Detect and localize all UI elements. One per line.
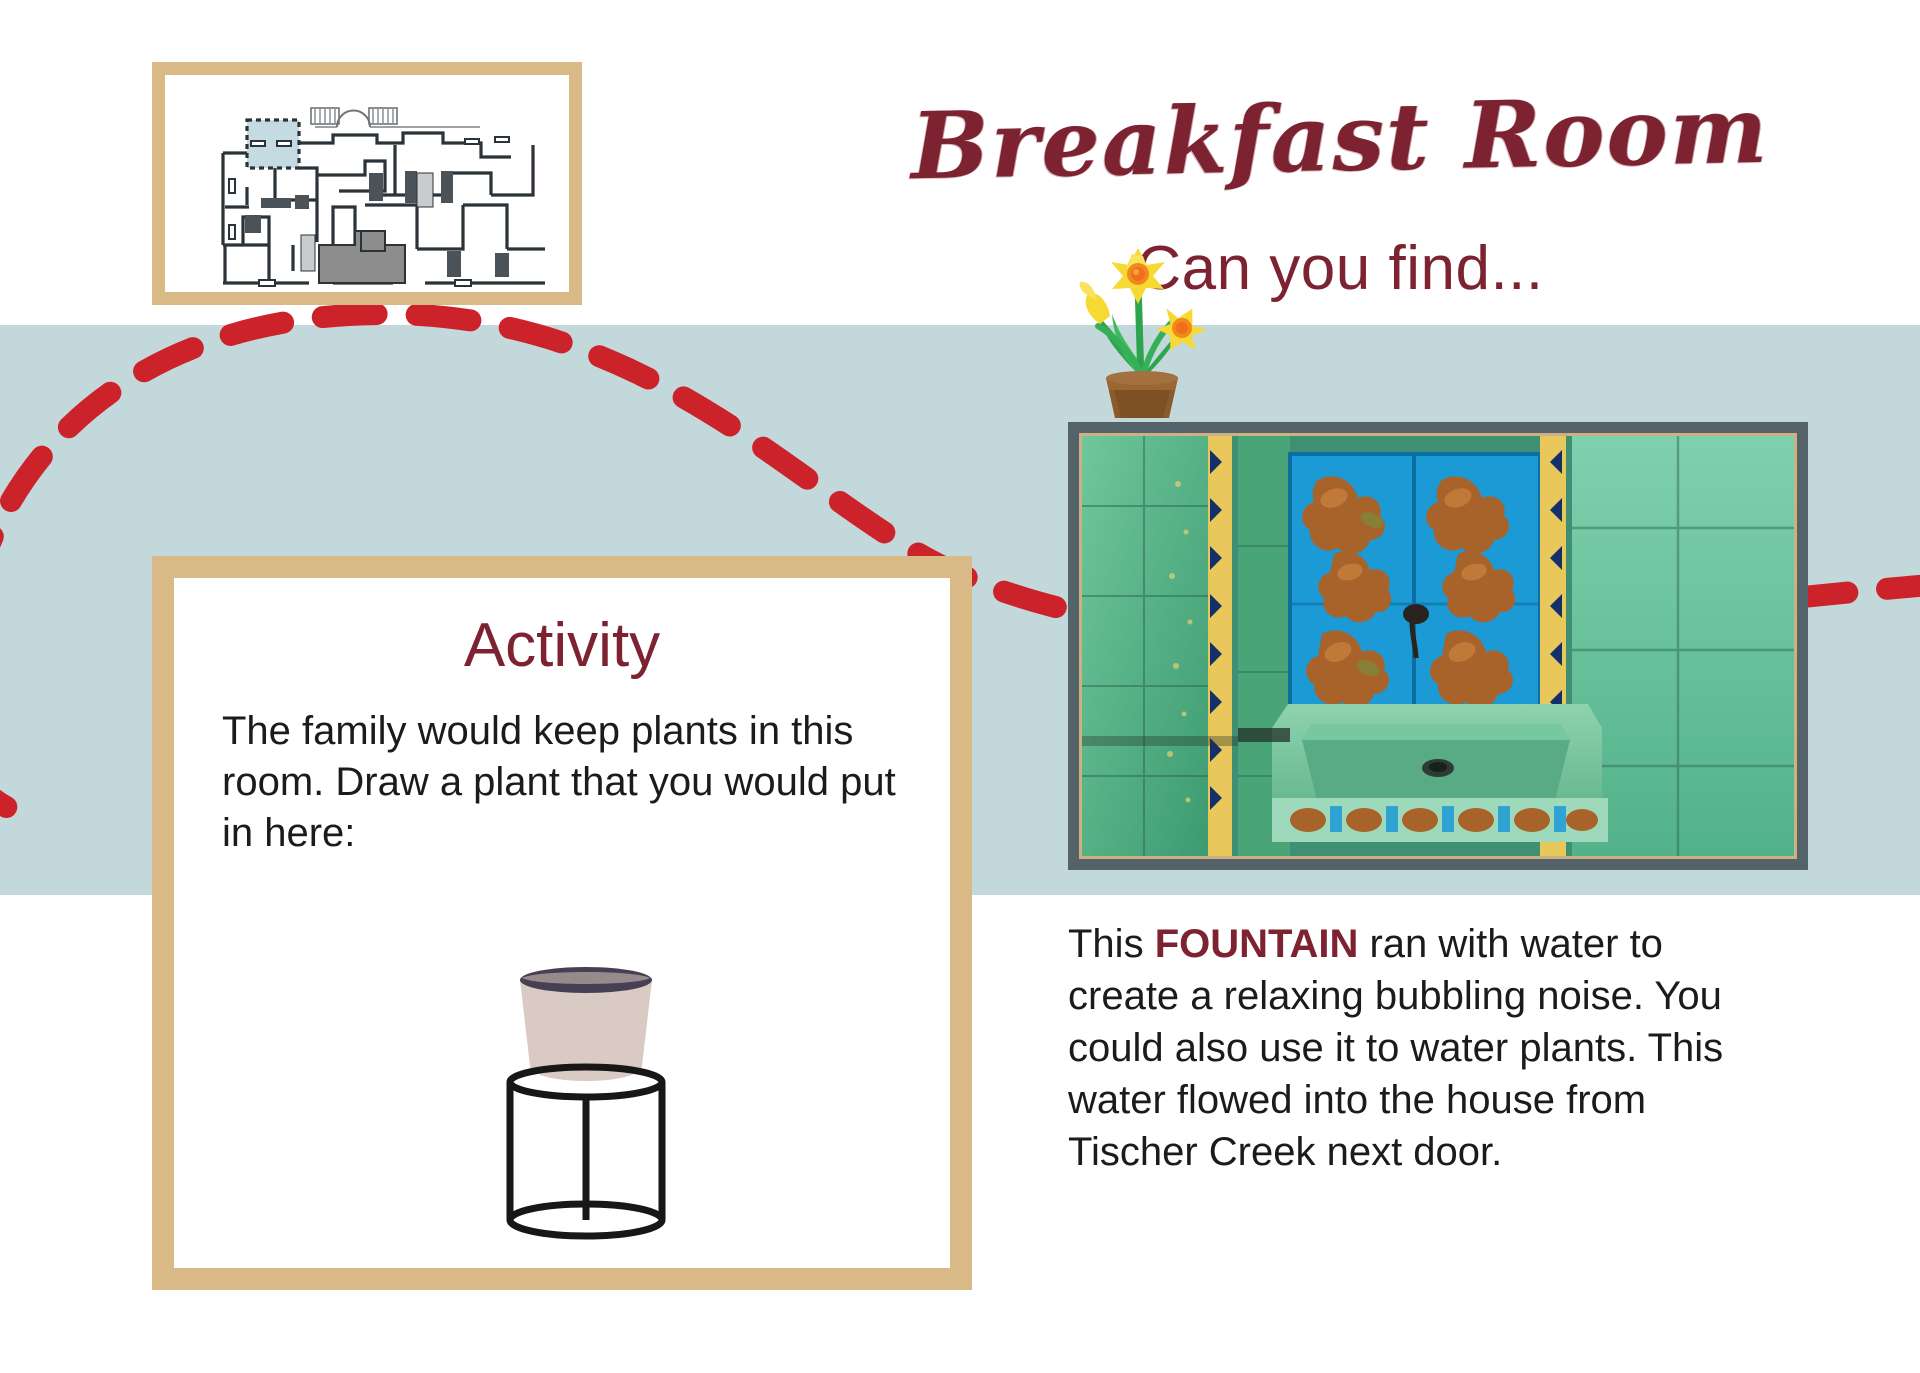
floor-plan-frame [152,62,582,305]
fountain-photo [1079,433,1797,859]
floor-plan-drawing [165,75,569,292]
activity-heading: Activity [174,610,950,681]
page-title: Breakfast Room [859,83,1821,193]
fountain-caption: This FOUNTAIN ran with water to create a… [1068,918,1768,1178]
activity-instructions: The family would keep plants in this roo… [222,706,912,860]
page-subtitle: Can you find... [860,238,1820,300]
daffodils-in-pot-illustration [1062,228,1222,420]
caption-keyword: FOUNTAIN [1155,922,1359,966]
activity-card: Activity The family would keep plants in… [152,556,972,1290]
fountain-photo-graphic [1082,436,1794,856]
caption-before: This [1068,922,1155,966]
activity-card-inner: Activity The family would keep plants in… [174,578,950,1268]
fountain-photo-frame [1068,422,1808,870]
potted-plant-illustration [476,958,696,1248]
